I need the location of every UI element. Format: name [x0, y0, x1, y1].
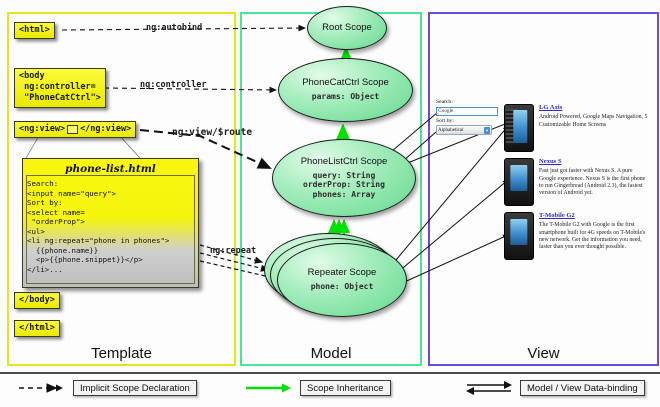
sort-label: Sort by: [436, 118, 500, 126]
legend-item-scope-inheritance: Scope Inheritance [245, 380, 391, 396]
scope-phonelistctrl: PhoneListCtrl Scope query: String orderP… [272, 139, 416, 217]
sort-select-value: Alphabetical [438, 128, 464, 133]
phone-info: Nexus S Fast just got faster with Nexus … [539, 158, 650, 206]
phone-name-link[interactable]: LG Axis [539, 104, 650, 112]
template-file-title: phone-list.html [23, 159, 198, 178]
double-arrow-icon [465, 380, 513, 396]
phone-screen-detail [510, 165, 527, 191]
label-ng-autobind: ng:autobind [146, 23, 202, 33]
scope-phonelistctrl-name: PhoneListCtrl Scope [301, 157, 388, 168]
column-model-label: Model [242, 345, 420, 362]
tag-body-open: <body ng:controller= "PhoneCatCtrl"> [14, 68, 106, 108]
phone-info: T-Mobile G2 The T-Mobile G2 with Google … [539, 212, 650, 260]
phone-info: LG Axis Android Powered, Google Maps Nav… [539, 104, 650, 152]
phone-thumbnail-icon [504, 158, 534, 206]
tag-body-close: </body> [14, 292, 60, 309]
scope-repeater-props: phone: Object [311, 282, 374, 292]
scope-phonecatctrl: PhoneCatCtrl Scope params: Object [278, 58, 413, 122]
tag-ngview: <ng:view> </ng:view> [14, 121, 136, 138]
label-ng-repeat: ng:repeat [210, 246, 256, 256]
phone-screen-detail [514, 110, 527, 143]
phone-snippet: Fast just got faster with Nexus S. A pur… [539, 168, 650, 197]
diagram-canvas: Template Model View [0, 0, 660, 405]
phone-snippet: Android Powered, Google Maps Navigation,… [539, 114, 650, 129]
search-input[interactable]: Google [436, 107, 498, 116]
template-file-panel: phone-list.html Search: <input name="que… [22, 158, 199, 288]
list-item[interactable]: T-Mobile G2 The T-Mobile G2 with Google … [504, 212, 650, 260]
dashed-arrow-icon [18, 382, 66, 394]
scope-repeater: Repeater Scope phone: Object [277, 243, 407, 317]
phone-thumbnail-icon [504, 104, 534, 152]
scope-phonecatctrl-name: PhoneCatCtrl Scope [302, 78, 389, 89]
scope-repeater-name: Repeater Scope [308, 268, 377, 279]
phone-thumbnail-icon [504, 212, 534, 260]
phone-list: LG Axis Android Powered, Google Maps Nav… [504, 104, 650, 266]
tag-html-close: </html> [14, 320, 60, 337]
tag-ngview-close: </ng:view> [80, 124, 131, 135]
green-arrow-icon [245, 382, 293, 394]
legend: Implicit Scope Declaration Scope Inherit… [0, 372, 660, 407]
scope-root: Root Scope [307, 6, 387, 50]
legend-label-data-binding: Model / View Data-binding [520, 380, 645, 396]
tag-html-open: <html> [14, 22, 55, 39]
column-view-label: View [430, 345, 657, 362]
sort-select[interactable]: Alphabetical ▾ [436, 125, 492, 135]
legend-item-implicit-scope: Implicit Scope Declaration [18, 380, 197, 396]
phone-name-link[interactable]: Nexus S [539, 158, 650, 166]
search-label: Search: [436, 99, 500, 107]
column-template-label: Template [9, 345, 234, 362]
phone-screen-detail [510, 219, 527, 245]
legend-item-data-binding: Model / View Data-binding [465, 380, 645, 396]
tag-ngview-open: <ng:view> [19, 124, 65, 135]
label-ng-view-route: ng:view/$route [172, 127, 252, 138]
chevron-down-icon: ▾ [484, 127, 490, 134]
view-search-form: Search: Google Sort by: Alphabetical ▾ [436, 99, 500, 135]
list-item[interactable]: LG Axis Android Powered, Google Maps Nav… [504, 104, 650, 152]
ngview-placeholder-box [67, 125, 78, 134]
legend-label-implicit-scope: Implicit Scope Declaration [73, 380, 197, 396]
scope-phonecatctrl-props: params: Object [312, 92, 379, 102]
list-item[interactable]: Nexus S Fast just got faster with Nexus … [504, 158, 650, 206]
scope-root-name: Root Scope [322, 23, 372, 34]
label-ng-controller: ng:controller [140, 80, 207, 90]
legend-label-scope-inheritance: Scope Inheritance [300, 380, 391, 396]
template-file-code: Search: <input name="query"> Sort by: <s… [23, 178, 198, 275]
scope-phonelistctrl-props: query: String orderProp: String phones: … [303, 171, 385, 200]
phone-snippet: The T-Mobile G2 with Google is the first… [539, 222, 650, 251]
phone-name-link[interactable]: T-Mobile G2 [539, 212, 650, 220]
